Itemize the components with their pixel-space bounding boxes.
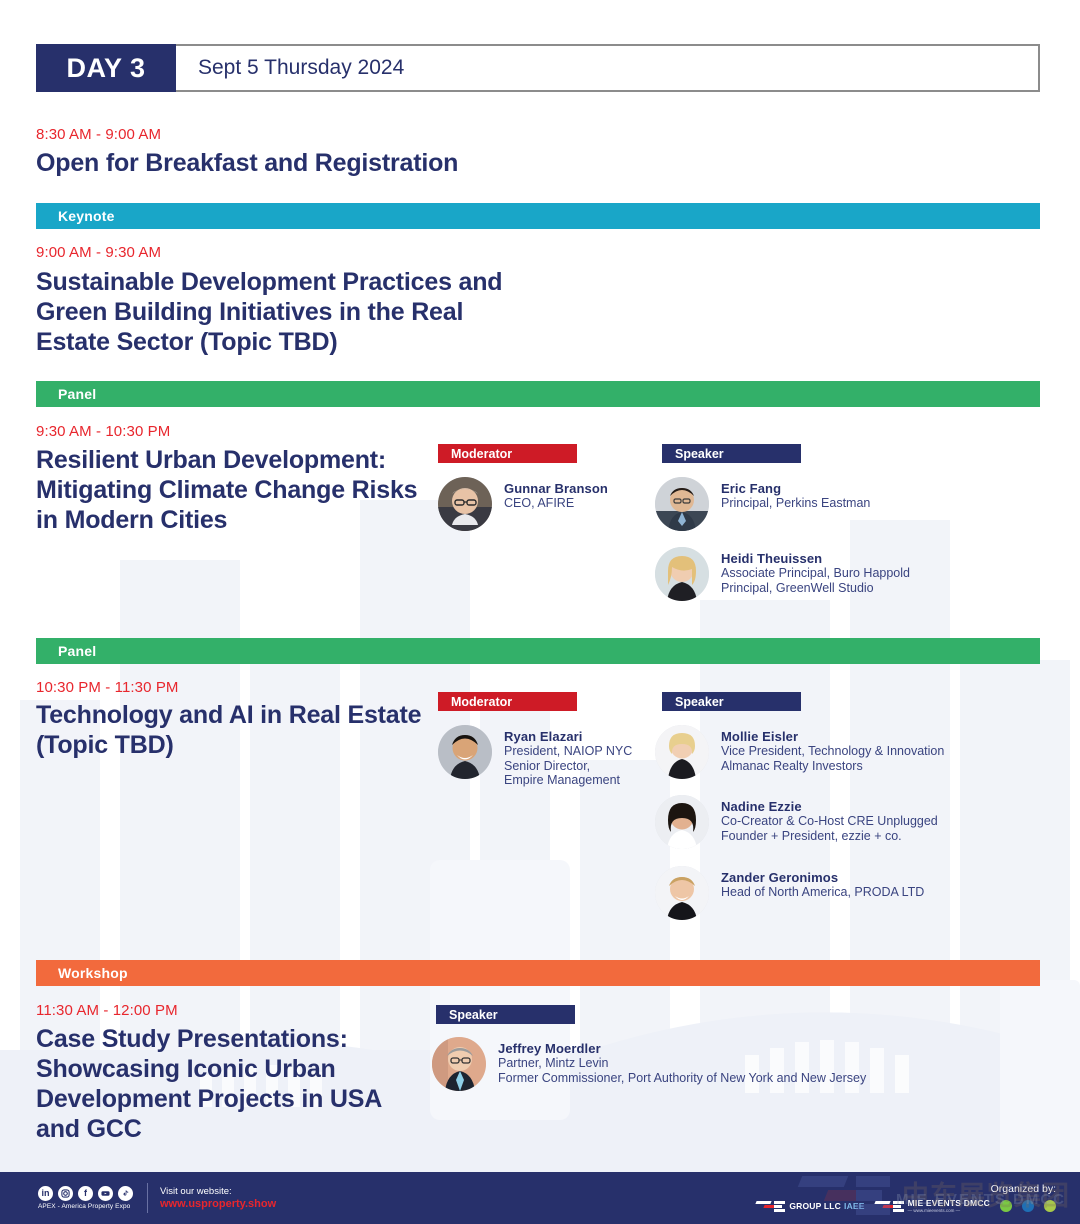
session-title: Technology and AI in Real Estate (Topic … bbox=[36, 700, 436, 760]
person-row: Mollie Eisler Vice President, Technology… bbox=[655, 725, 944, 779]
person-role: Almanac Realty Investors bbox=[721, 759, 944, 774]
tiktok-icon[interactable] bbox=[118, 1186, 133, 1201]
eco-badge-icon bbox=[1000, 1200, 1012, 1212]
person-role: Empire Management bbox=[504, 773, 632, 788]
instagram-icon[interactable] bbox=[58, 1186, 73, 1201]
session-time: 8:30 AM - 9:00 AM bbox=[36, 126, 161, 143]
session-time: 10:30 PM - 11:30 PM bbox=[36, 679, 179, 696]
person-role: President, NAIOP NYC bbox=[504, 744, 632, 759]
person-name: Gunnar Branson bbox=[504, 481, 608, 496]
person-row: Ryan Elazari President, NAIOP NYC Senior… bbox=[438, 725, 632, 788]
person-role: Partner, Mintz Levin bbox=[498, 1056, 866, 1071]
avatar bbox=[655, 477, 709, 531]
visit-label: Visit our website: bbox=[160, 1186, 276, 1198]
category-label: Keynote bbox=[36, 208, 115, 224]
avatar bbox=[655, 795, 709, 849]
person-role: Founder + President, ezzie + co. bbox=[721, 829, 938, 844]
session-time: 11:30 AM - 12:00 PM bbox=[36, 1002, 178, 1019]
person-name: Eric Fang bbox=[721, 481, 870, 496]
person-name: Mollie Eisler bbox=[721, 729, 944, 744]
person-name: Jeffrey Moerdler bbox=[498, 1041, 866, 1056]
website-url[interactable]: www.usproperty.show bbox=[160, 1198, 276, 1211]
apex-caption: APEX - America Property Expo bbox=[38, 1203, 133, 1210]
role-tag-moderator: Moderator bbox=[438, 444, 577, 463]
person-name: Nadine Ezzie bbox=[721, 799, 938, 814]
person-role: Principal, GreenWell Studio bbox=[721, 581, 910, 596]
avatar bbox=[655, 725, 709, 779]
role-tag-speaker: Speaker bbox=[662, 444, 801, 463]
role-tag-label: Speaker bbox=[436, 1008, 498, 1022]
person-role: Former Commissioner, Port Authority of N… bbox=[498, 1071, 866, 1086]
green-badge-icon bbox=[1044, 1200, 1056, 1212]
session-time: 9:00 AM - 9:30 AM bbox=[36, 244, 161, 261]
person-role: Head of North America, PRODA LTD bbox=[721, 885, 924, 900]
category-label: Workshop bbox=[36, 965, 128, 981]
facebook-icon[interactable]: f bbox=[78, 1186, 93, 1201]
role-tag-label: Speaker bbox=[662, 695, 724, 709]
social-block: in f bbox=[0, 1186, 133, 1210]
person-row: Eric Fang Principal, Perkins Eastman bbox=[655, 477, 870, 531]
person-row: Gunnar Branson CEO, AFIRE bbox=[438, 477, 608, 531]
avatar bbox=[655, 866, 709, 920]
youtube-icon[interactable] bbox=[98, 1186, 113, 1201]
session-title: Resilient Urban Development: Mitigating … bbox=[36, 445, 436, 535]
avatar bbox=[655, 547, 709, 601]
person-role: Senior Director, bbox=[504, 759, 632, 774]
category-label: Panel bbox=[36, 386, 96, 402]
person-role: Associate Principal, Buro Happold bbox=[721, 566, 910, 581]
agenda-page: DAY 3 Sept 5 Thursday 2024 8:30 AM - 9:0… bbox=[0, 0, 1080, 1224]
mie-group-label: GROUP LLC bbox=[789, 1201, 841, 1211]
category-bar-panel: Panel bbox=[36, 638, 1040, 664]
organizer-block: Organized by: GROUP LLC IAEE bbox=[756, 1183, 1080, 1213]
person-row: Heidi Theuissen Associate Principal, Bur… bbox=[655, 547, 910, 601]
day-header: DAY 3 Sept 5 Thursday 2024 bbox=[36, 44, 1040, 92]
person-role: Principal, Perkins Eastman bbox=[721, 496, 870, 511]
mie-events-sublabel: — www.mieevents.com — bbox=[908, 1208, 990, 1213]
session-title: Open for Breakfast and Registration bbox=[36, 148, 936, 178]
iaee-label: IAEE bbox=[844, 1201, 865, 1211]
category-bar-panel: Panel bbox=[36, 381, 1040, 407]
person-name: Heidi Theuissen bbox=[721, 551, 910, 566]
iso-badge-icon bbox=[1022, 1200, 1034, 1212]
category-label: Panel bbox=[36, 643, 96, 659]
role-tag-moderator: Moderator bbox=[438, 692, 577, 711]
mie-logo-glyph bbox=[875, 1200, 905, 1212]
role-tag-speaker: Speaker bbox=[436, 1005, 575, 1024]
footer-bar: in f bbox=[0, 1172, 1080, 1224]
person-role: Co-Creator & Co-Host CRE Unplugged bbox=[721, 814, 938, 829]
avatar bbox=[438, 477, 492, 531]
linkedin-icon[interactable]: in bbox=[38, 1186, 53, 1201]
person-row: Nadine Ezzie Co-Creator & Co-Host CRE Un… bbox=[655, 795, 938, 849]
organized-by-label: Organized by: bbox=[991, 1183, 1056, 1195]
social-icons: in f bbox=[38, 1186, 133, 1201]
person-name: Zander Geronimos bbox=[721, 870, 924, 885]
footer-divider bbox=[147, 1183, 148, 1213]
organizer-logos: GROUP LLC IAEE MIE EVENTS DMCC — www. bbox=[756, 1198, 1056, 1213]
category-bar-workshop: Workshop bbox=[36, 960, 1040, 986]
session-title: Case Study Presentations: Showcasing Ico… bbox=[36, 1024, 396, 1144]
person-role: Vice President, Technology & Innovation bbox=[721, 744, 944, 759]
person-row: Zander Geronimos Head of North America, … bbox=[655, 866, 924, 920]
avatar bbox=[438, 725, 492, 779]
person-role: CEO, AFIRE bbox=[504, 496, 608, 511]
person-name: Ryan Elazari bbox=[504, 729, 632, 744]
mie-events-logo: MIE EVENTS DMCC — www.mieevents.com — bbox=[875, 1198, 990, 1213]
visit-website-block[interactable]: Visit our website: www.usproperty.show bbox=[160, 1186, 276, 1211]
mie-events-label: MIE EVENTS DMCC bbox=[908, 1198, 990, 1208]
role-tag-label: Moderator bbox=[438, 447, 512, 461]
mie-group-logo: GROUP LLC IAEE bbox=[756, 1200, 864, 1212]
role-tag-speaker: Speaker bbox=[662, 692, 801, 711]
avatar bbox=[432, 1037, 486, 1091]
day-badge: DAY 3 bbox=[36, 44, 176, 92]
person-row: Jeffrey Moerdler Partner, Mintz Levin Fo… bbox=[432, 1037, 866, 1091]
role-tag-label: Moderator bbox=[438, 695, 512, 709]
mie-logo-glyph bbox=[756, 1200, 786, 1212]
session-time: 9:30 AM - 10:30 PM bbox=[36, 423, 170, 440]
session-title: Sustainable Development Practices and Gr… bbox=[36, 267, 506, 357]
category-bar-keynote: Keynote bbox=[36, 203, 1040, 229]
header-date: Sept 5 Thursday 2024 bbox=[176, 46, 404, 90]
role-tag-label: Speaker bbox=[662, 447, 724, 461]
